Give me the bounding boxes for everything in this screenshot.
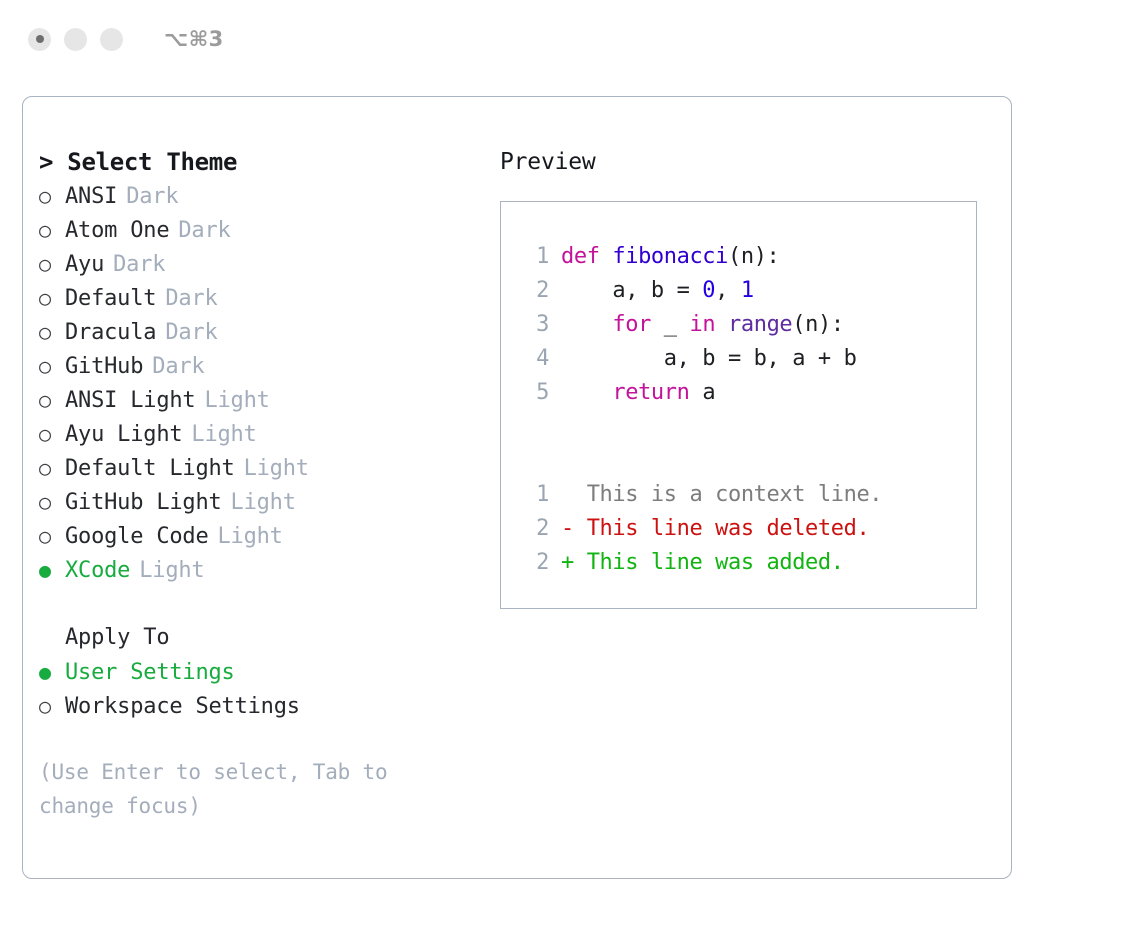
radio-selected-icon[interactable]: ● (39, 553, 65, 587)
theme-name: Ayu Light (65, 418, 182, 452)
theme-name: ANSI (65, 180, 117, 214)
code-blank-line (523, 444, 970, 478)
code-blank-line (523, 410, 970, 444)
theme-variant-tag: Light (139, 554, 204, 588)
window-dot-second[interactable] (64, 28, 87, 51)
theme-name: Atom One (65, 214, 169, 248)
theme-variant-tag: Light (231, 486, 296, 520)
preview-heading: Preview (500, 145, 990, 179)
line-number: 2 (523, 274, 549, 308)
radio-icon[interactable]: ○ (39, 383, 65, 417)
theme-variant-tag: Light (191, 418, 256, 452)
code-token: return (612, 376, 689, 410)
theme-name: Default Light (65, 452, 235, 486)
theme-variant-tag: Dark (178, 214, 230, 248)
theme-variant-tag: Dark (152, 350, 204, 384)
theme-name: Ayu (65, 248, 104, 282)
radio-selected-icon[interactable]: ● (39, 655, 65, 689)
code-token: _ (651, 308, 690, 342)
keyboard-hint-text: (Use Enter to select, Tab to change focu… (39, 755, 449, 823)
radio-icon[interactable]: ○ (39, 315, 65, 349)
line-number: 4 (523, 342, 549, 376)
theme-name: GitHub Light (65, 486, 222, 520)
line-number: 3 (523, 308, 549, 342)
theme-option-dracula[interactable]: ○ Dracula Dark (39, 315, 489, 349)
diff-text: + This line was added. (561, 546, 844, 580)
apply-to-label: Workspace Settings (65, 690, 300, 724)
apply-to-label: User Settings (65, 656, 235, 690)
theme-option-google-code[interactable]: ○ Google Code Light (39, 519, 489, 553)
theme-option-ansi[interactable]: ○ ANSI Dark (39, 179, 489, 213)
theme-option-default[interactable]: ○ Default Dark (39, 281, 489, 315)
apply-to-option-user-settings[interactable]: ● User Settings (39, 655, 489, 689)
code-line: 4 a, b = b, a + b (523, 342, 970, 376)
theme-name: Default (65, 282, 156, 316)
code-token: (n): (792, 308, 843, 342)
code-token: fibonacci (612, 240, 728, 274)
code-line: 5 return a (523, 376, 970, 410)
apply-to-option-workspace-settings[interactable]: ○ Workspace Settings (39, 689, 489, 723)
code-token: a, b = b, a + b (561, 342, 856, 376)
theme-option-atom-one[interactable]: ○ Atom One Dark (39, 213, 489, 247)
window-titlebar: ⌥⌘3 (0, 0, 1140, 78)
code-token: a, b = (561, 274, 702, 308)
theme-option-list[interactable]: ○ ANSI Dark ○ Atom One Dark ○ Ayu Dark (39, 179, 489, 587)
theme-option-github-light[interactable]: ○ GitHub Light Light (39, 485, 489, 519)
theme-name: GitHub (65, 350, 143, 384)
radio-icon[interactable]: ○ (39, 519, 65, 553)
theme-variant-tag: Light (218, 520, 283, 554)
code-line: 1 def fibonacci (n): (523, 240, 970, 274)
radio-icon[interactable]: ○ (39, 213, 65, 247)
code-line: 3 for _ in range (n): (523, 308, 970, 342)
diff-text: This is a context line. (561, 478, 882, 512)
theme-name: ANSI Light (65, 384, 195, 418)
code-token: in (689, 308, 715, 342)
theme-name: Google Code (65, 520, 209, 554)
preview-column: Preview 1 def fibonacci (n): 2 a, b = (500, 145, 990, 609)
code-token: a (689, 376, 715, 410)
code-token: 1 (741, 274, 754, 308)
active-dot-indicator-icon (36, 35, 44, 43)
theme-variant-tag: Dark (113, 248, 165, 282)
keyboard-shortcut-label: ⌥⌘3 (164, 27, 224, 51)
apply-to-heading: Apply To (39, 621, 489, 655)
theme-option-github[interactable]: ○ GitHub Dark (39, 349, 489, 383)
diff-line-added: 2 + This line was added. (523, 546, 970, 580)
theme-selection-column: > Select Theme ○ ANSI Dark ○ Atom One Da… (39, 145, 489, 823)
preview-code-area: 1 def fibonacci (n): 2 a, b = 0 , 1 (523, 240, 970, 580)
list-spacer (39, 587, 489, 621)
code-token (561, 308, 612, 342)
theme-option-default-light[interactable]: ○ Default Light Light (39, 451, 489, 485)
select-theme-heading: > Select Theme (39, 145, 489, 179)
code-token: def (561, 240, 612, 274)
code-token: 0 (702, 274, 715, 308)
radio-icon[interactable]: ○ (39, 281, 65, 315)
theme-picker-window: ⌥⌘3 > Select Theme ○ ANSI Dark ○ Atom On… (0, 0, 1140, 934)
main-panel: > Select Theme ○ ANSI Dark ○ Atom One Da… (22, 96, 1012, 879)
window-dot-active[interactable] (28, 28, 51, 51)
theme-option-ayu-light[interactable]: ○ Ayu Light Light (39, 417, 489, 451)
radio-icon[interactable]: ○ (39, 485, 65, 519)
radio-icon[interactable]: ○ (39, 689, 65, 723)
theme-variant-tag: Dark (165, 316, 217, 350)
line-number: 2 (523, 546, 549, 580)
code-line: 2 a, b = 0 , 1 (523, 274, 970, 308)
radio-icon[interactable]: ○ (39, 179, 65, 213)
diff-line-deleted: 2 - This line was deleted. (523, 512, 970, 546)
theme-variant-tag: Light (204, 384, 269, 418)
line-number: 2 (523, 512, 549, 546)
code-token: , (715, 274, 741, 308)
window-controls (28, 28, 123, 51)
theme-option-xcode[interactable]: ● XCode Light (39, 553, 489, 587)
code-token: for (612, 308, 651, 342)
diff-line-context: 1 This is a context line. (523, 478, 970, 512)
theme-variant-tag: Dark (165, 282, 217, 316)
line-number: 1 (523, 240, 549, 274)
theme-name: Dracula (65, 316, 156, 350)
theme-option-ansi-light[interactable]: ○ ANSI Light Light (39, 383, 489, 417)
radio-icon[interactable]: ○ (39, 349, 65, 383)
theme-variant-tag: Dark (126, 180, 178, 214)
line-number: 5 (523, 376, 549, 410)
theme-option-ayu[interactable]: ○ Ayu Dark (39, 247, 489, 281)
preview-box: 1 def fibonacci (n): 2 a, b = 0 , 1 (500, 201, 977, 609)
code-token (561, 376, 612, 410)
theme-name: XCode (65, 554, 130, 588)
code-token: (n): (728, 240, 779, 274)
radio-icon[interactable]: ○ (39, 247, 65, 281)
radio-icon[interactable]: ○ (39, 417, 65, 451)
code-token (715, 308, 728, 342)
diff-text: - This line was deleted. (561, 512, 869, 546)
line-number: 1 (523, 478, 549, 512)
code-token: range (728, 308, 792, 342)
theme-variant-tag: Light (244, 452, 309, 486)
radio-icon[interactable]: ○ (39, 451, 65, 485)
window-dot-third[interactable] (100, 28, 123, 51)
apply-to-option-list[interactable]: ● User Settings ○ Workspace Settings (39, 655, 489, 723)
